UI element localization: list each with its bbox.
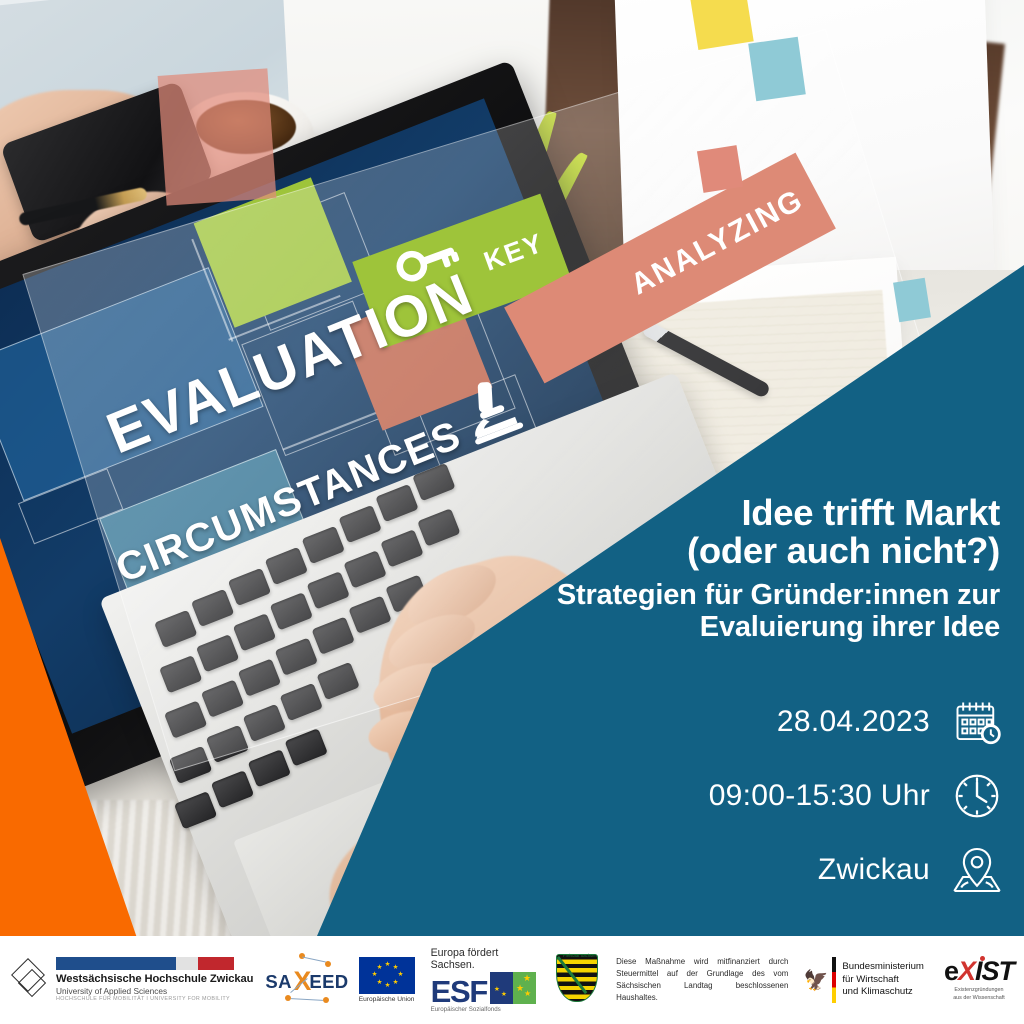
logo-bmwk: 🦅 Bundesministerium für Wirtschaft und K… bbox=[806, 957, 924, 1003]
event-date-row: 28.04.2023 bbox=[606, 690, 1006, 754]
bmwk-line3: und Klimaschutz bbox=[842, 986, 924, 999]
logo-freistaat-sachsen: Freistaat Sachsen bbox=[556, 954, 601, 1006]
exist-word-pre: e bbox=[944, 956, 958, 986]
whz-subtitle: University of Applied Sciences bbox=[56, 987, 253, 996]
footer-logo-bar: Westsächsische Hochschule Zwickau Univer… bbox=[0, 936, 1024, 1024]
esf-wordmark: ESF bbox=[431, 979, 487, 1004]
whz-tagline: HOCHSCHULE FÜR MOBILITÄT I UNIVERSITY FO… bbox=[56, 997, 253, 1003]
exist-word-post: IST bbox=[975, 956, 1014, 986]
decor-square-lightblue-2 bbox=[893, 278, 931, 323]
esf-bottom-line: Europäischer Sozialfonds bbox=[431, 1006, 542, 1013]
map-pin-icon bbox=[948, 841, 1006, 899]
event-poster: KEY ANALYZING EVALUATION CIRCUMSTANCES bbox=[0, 0, 1024, 1024]
decor-square-yellow bbox=[690, 0, 753, 50]
logo-esf: Europa fördert Sachsen. ESF ★ ★ ★ ★ ★ Eu… bbox=[431, 947, 542, 1013]
logo-saxeed: SA EED X bbox=[265, 953, 346, 1007]
sachsen-caption: Freistaat Sachsen bbox=[558, 953, 603, 958]
sachsen-shield-icon bbox=[556, 954, 598, 1002]
banner-key-label: KEY bbox=[480, 227, 548, 277]
clock-icon bbox=[948, 767, 1006, 825]
saxeed-word-post: EED bbox=[309, 971, 348, 993]
event-title-line2: (oder auch nicht?) bbox=[480, 532, 1000, 570]
event-time-row: 09:00-15:30 Uhr bbox=[606, 764, 1006, 828]
event-subtitle-line1: Strategien für Gründer:innen zur bbox=[480, 579, 1000, 611]
logo-european-union: ★ ★ ★ ★ ★ ★ ★ ★ Europäische Union bbox=[359, 957, 415, 1004]
esf-top-line: Europa fördert Sachsen. bbox=[431, 947, 542, 971]
whz-diamond-icon bbox=[10, 960, 50, 1000]
eu-flag-icon: ★ ★ ★ ★ ★ ★ ★ ★ bbox=[359, 957, 415, 994]
german-flag-bar bbox=[832, 957, 836, 1003]
bmwk-line1: Bundesministerium bbox=[842, 961, 924, 974]
event-location: Zwickau bbox=[818, 853, 930, 887]
event-meta: 28.04.2023 09:00-15:30 Uhr bbox=[606, 690, 1006, 912]
event-subtitle-line2: Evaluierung ihrer Idee bbox=[480, 611, 1000, 643]
whz-colorbar bbox=[56, 957, 234, 970]
funding-note: Diese Maßnahme wird mitfinanziert durch … bbox=[616, 956, 788, 1005]
event-headline-block: Idee trifft Markt (oder auch nicht?) Str… bbox=[480, 494, 1000, 644]
event-time: 09:00-15:30 Uhr bbox=[709, 779, 930, 813]
exist-sub2: aus der Wissenschaft bbox=[944, 995, 1014, 1002]
whz-name: Westsächsische Hochschule Zwickau bbox=[56, 973, 253, 985]
event-date: 28.04.2023 bbox=[777, 705, 930, 739]
exist-sub1: Existenzgründungen bbox=[944, 987, 1014, 994]
logo-exist: eXIST Existenzgründungen aus der Wissens… bbox=[944, 958, 1014, 1001]
event-title-line1: Idee trifft Markt bbox=[480, 494, 1000, 532]
decor-square-coral-photo bbox=[158, 68, 277, 205]
eu-caption: Europäische Union bbox=[359, 996, 415, 1003]
federal-eagle-icon: 🦅 bbox=[806, 968, 826, 992]
calendar-clock-icon bbox=[948, 693, 1006, 751]
bmwk-line2: für Wirtschaft bbox=[842, 974, 924, 987]
esf-flag-icon: ★ ★ ★ ★ ★ bbox=[490, 972, 536, 1004]
event-location-row: Zwickau bbox=[606, 838, 1006, 902]
decor-square-coral-small bbox=[697, 145, 743, 193]
exist-word-x: X bbox=[958, 956, 975, 986]
decor-square-lightblue bbox=[748, 37, 806, 101]
logo-westsaechsische-hochschule-zwickau: Westsächsische Hochschule Zwickau Univer… bbox=[0, 957, 253, 1003]
saxeed-word-pre: SA bbox=[265, 971, 292, 993]
